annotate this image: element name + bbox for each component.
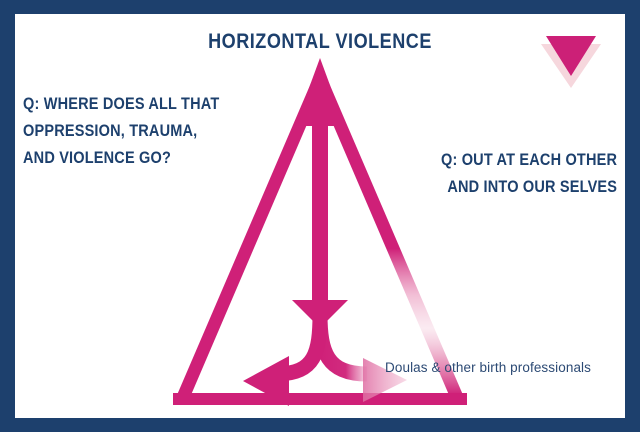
branch-right-arm [320, 314, 367, 374]
page-title: HORIZONTAL VIOLENCE [58, 30, 583, 54]
caption-doulas: Doulas & other birth professionals [385, 360, 591, 375]
question-left: Q: WHERE DOES ALL THAT OPPRESSION, TRAUM… [23, 91, 219, 172]
question-left-line-3: AND VIOLENCE GO? [23, 145, 219, 172]
poster-canvas: HORIZONTAL VIOLENCE [15, 14, 625, 418]
question-left-line-1: Q: WHERE DOES ALL THAT [23, 91, 219, 118]
question-right-line-1: Q: OUT AT EACH OTHER [441, 147, 617, 174]
downward-triangle-chevron-logo [535, 26, 607, 88]
branch-left-arrow-head-icon [243, 356, 289, 406]
up-arrow-shaft [312, 84, 328, 304]
triangle-right-leg [314, 62, 463, 395]
triangle-base [173, 393, 467, 405]
horizontal-violence-diagram [15, 14, 625, 418]
up-arrow-head-icon [295, 58, 345, 126]
branch-left-arm [277, 314, 320, 374]
question-left-line-2: OPPRESSION, TRAUMA, [23, 118, 219, 145]
question-right-line-2: AND INTO OUR SELVES [441, 174, 617, 201]
down-arrow-head-icon [292, 300, 348, 328]
question-right: Q: OUT AT EACH OTHER AND INTO OUR SELVES [441, 147, 617, 201]
poster-frame: HORIZONTAL VIOLENCE [0, 0, 640, 432]
